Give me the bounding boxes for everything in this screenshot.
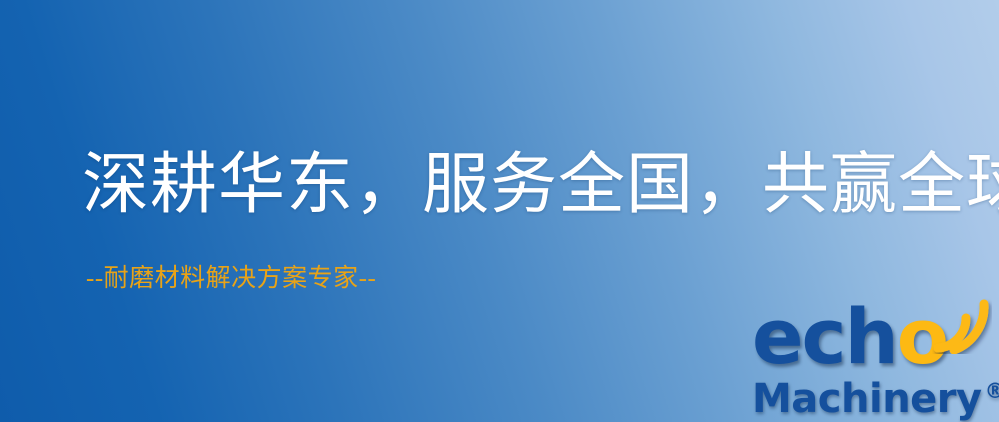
banner-subtitle: --耐磨材料解决方案专家-- — [86, 266, 376, 291]
registered-trademark-icon: ® — [985, 379, 999, 403]
company-logo: echo Machinery® — [748, 296, 999, 422]
logo-tagline-text: Machinery — [752, 376, 982, 422]
logo-tagline: Machinery® — [752, 368, 999, 422]
signal-waves-icon — [932, 292, 992, 354]
banner-headline: 深耕华东，服务全国，共赢全球 — [82, 152, 999, 219]
promotional-banner: 深耕华东，服务全国，共赢全球 --耐磨材料解决方案专家-- echo Machi… — [0, 0, 999, 422]
logo-wordmark: echo — [748, 296, 999, 374]
logo-echo-text: echo — [752, 298, 947, 376]
